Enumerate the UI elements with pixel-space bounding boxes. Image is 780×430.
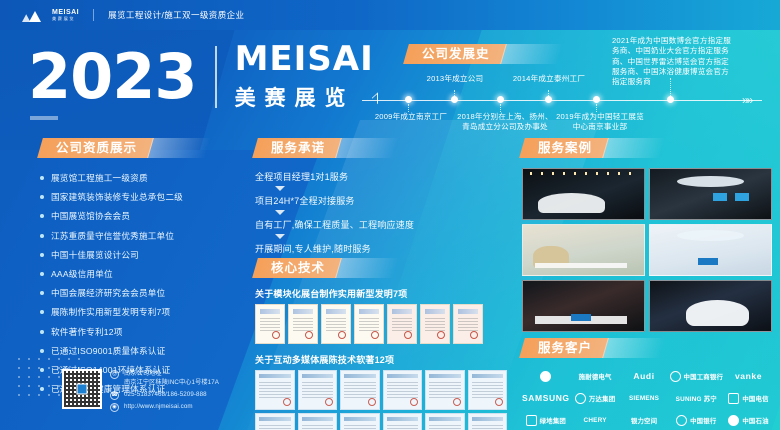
certificate-thumb[interactable] [255, 413, 295, 430]
certificate-thumb[interactable] [453, 304, 483, 344]
case-photo-sunwoda-inflatable-booth[interactable] [649, 280, 772, 332]
list-item-label: AAA级信用单位 [51, 268, 113, 280]
qr-center-logo-icon [77, 384, 88, 395]
service-cases-grid [522, 168, 772, 332]
phone-icon: ☎ [110, 391, 119, 400]
client-name: CHERY [584, 417, 607, 424]
contact-phone: 025-51837468/186-5209-888 [124, 391, 207, 400]
client-logo-bank-of-china: 中国银行 [670, 411, 724, 429]
hero-divider [215, 46, 217, 108]
client-logo-suning: SUNING 苏宁 [670, 389, 724, 407]
bullet-icon [40, 253, 44, 257]
list-item: 展陈制作实用新型发明专利7项 [40, 306, 245, 318]
timeline-event-label: 2009年成立南京工厂 [364, 112, 458, 122]
bullet-icon [40, 176, 44, 180]
case-photo-expo-multi-booth[interactable] [522, 280, 645, 332]
brand-logotype-sub: 美赛展览 [52, 17, 79, 22]
core-technology-title: 核心技术 [271, 258, 325, 278]
client-logo-chery: CHERY [572, 411, 619, 429]
list-item-label: 中国会展经济研究会会员单位 [51, 287, 165, 299]
brand-logotype: MEISAI 美赛展览 [52, 9, 79, 22]
list-item: 已通过ISO9001质量体系认证 [40, 345, 245, 357]
client-logo-greenland: 绿地集团 [522, 411, 570, 429]
list-item: 国家建筑装饰装修专业总承包二级 [40, 191, 245, 203]
chevron-down-icon [275, 186, 285, 191]
list-item-label: 展览馆工程施工一级资质 [51, 172, 148, 184]
software-group-label: 关于互动多媒体展陈技术软著12项 [255, 353, 507, 366]
client-logo-samsung: SAMSUNG [522, 389, 570, 407]
hero-brand-cn: 美赛展览 [235, 82, 374, 112]
client-name: 中国电信 [742, 394, 768, 403]
timeline-arrow-right-icon: »» [742, 94, 751, 106]
certificate-thumb[interactable] [383, 370, 423, 410]
timeline-node [405, 96, 412, 103]
patent-group-label: 关于模块化展台制作实用新型发明7项 [255, 287, 507, 300]
list-item-label: 展陈制作实用新型发明专利7项 [51, 306, 170, 318]
brand-logotype-text: MEISAI [52, 9, 79, 16]
service-promise-panel: 服务承诺 全程项目经理1对1服务 项目24H*7全程对接服务 自有工厂,确保工程… [255, 138, 505, 255]
list-item: 中国会展经济研究会会员单位 [40, 287, 245, 299]
service-promise-flow: 全程项目经理1对1服务 项目24H*7全程对接服务 自有工厂,确保工程质量、工程… [255, 170, 505, 255]
certificate-thumb[interactable] [255, 370, 295, 410]
clients-panel: 服务客户 施耐德电气 Audi 中国工商银行 vanke SAMSUNG [522, 338, 772, 429]
certificate-thumb[interactable] [255, 304, 285, 344]
certificate-thumb[interactable] [298, 370, 338, 410]
timeline-event-label: 2014年成立泰州工厂 [500, 74, 598, 84]
bullet-icon [40, 234, 44, 238]
timeline-arrow-left-icon [372, 92, 378, 108]
certificate-thumb[interactable] [298, 413, 338, 430]
service-cases-title: 服务案例 [538, 138, 592, 158]
contact-address-row: ◎ 南京公司地址 南京江宁区秣陵INC中心1号楼17A [110, 370, 219, 388]
client-name: 中国银行 [690, 416, 716, 425]
icbc-mark-icon [670, 371, 681, 382]
list-item: 江苏重质量守信誉优秀施工单位 [40, 230, 245, 242]
client-name: 绿地集团 [540, 416, 566, 425]
software-certificate-grid [255, 370, 507, 430]
timeline-title: 公司发展史 [422, 44, 490, 64]
qr-code[interactable] [62, 369, 102, 409]
certificate-thumb[interactable] [340, 413, 380, 430]
hero-brand: MEISAI 美赛展览 [235, 42, 374, 112]
case-photo-eco-wood-booth[interactable] [522, 224, 645, 276]
contact-address-value: 南京江宁区秣陵INC中心1号楼17A [124, 379, 219, 386]
certificate-thumb[interactable] [383, 413, 423, 430]
list-item: 展览馆工程施工一级资质 [40, 172, 245, 184]
globe-icon: ◉ [110, 403, 119, 412]
client-name: 中国工商银行 [684, 372, 724, 381]
promise-item: 开展期间,专人维护,随时服务 [255, 242, 505, 255]
timeline-axis [362, 100, 762, 101]
poster-canvas: MEISAI 美赛展览 展览工程设计/施工双一级资质企业 2023 MEISAI… [0, 0, 780, 430]
certificate-thumb[interactable] [340, 370, 380, 410]
client-name: 中国石油 [742, 416, 768, 425]
service-cases-panel: 服务案例 [522, 138, 772, 332]
client-name: SIEMENS [629, 395, 659, 402]
header-divider [93, 9, 94, 21]
certificate-thumb[interactable] [387, 304, 417, 344]
contact-panel: ◎ 南京公司地址 南京江宁区秣陵INC中心1号楼17A ☎ 025-518374… [18, 358, 238, 412]
list-item-label: 软件著作专利12项 [51, 326, 123, 338]
client-name: 银力空间 [631, 416, 657, 425]
core-technology-title-ribbon: 核心技术 [255, 258, 339, 278]
timeline-event-label: 2019年成为中国轻工展览中心南京事业部 [554, 112, 646, 133]
hero-block: 2023 MEISAI 美赛展览 [28, 42, 374, 112]
header-tagline: 展览工程设计/施工双一级资质企业 [108, 9, 244, 21]
certificate-thumb[interactable] [321, 304, 351, 344]
contact-website[interactable]: http://www.njmeisai.com [124, 403, 193, 412]
certificate-thumb[interactable] [468, 370, 508, 410]
client-logo-wanda: 万达集团 [572, 389, 619, 407]
timeline-event-label: 2018年分别在上海、扬州、青岛成立分公司及办事处 [456, 112, 554, 133]
promise-item: 自有工厂,确保工程质量、工程响应速度 [255, 218, 505, 231]
greenland-mark-icon [526, 415, 537, 426]
certificate-thumb[interactable] [425, 413, 465, 430]
chevron-down-icon [275, 234, 285, 239]
client-name: SUNING 苏宁 [676, 394, 717, 403]
list-item: 中国展览馆协会会员 [40, 210, 245, 222]
promise-item: 项目24H*7全程对接服务 [255, 194, 505, 207]
contact-address-label: 南京公司地址 [124, 370, 162, 377]
contact-website-row[interactable]: ◉ http://www.njmeisai.com [110, 403, 219, 412]
clients-title-ribbon: 服务客户 [522, 338, 606, 358]
case-photo-white-dome-booth[interactable] [649, 224, 772, 276]
bullet-icon [40, 272, 44, 276]
certificate-thumb[interactable] [288, 304, 318, 344]
bmw-roundel-icon [540, 371, 551, 382]
location-pin-icon: ◎ [110, 370, 119, 379]
service-promise-title: 服务承诺 [271, 138, 325, 158]
client-name: vanke [735, 371, 762, 381]
china-telecom-mark-icon [728, 393, 739, 404]
client-logo-siemens: SIEMENS [621, 389, 668, 407]
bullet-icon [40, 195, 44, 199]
certificate-thumb[interactable] [420, 304, 450, 344]
list-item-label: 江苏重质量守信誉优秀施工单位 [51, 230, 174, 242]
timeline-event-label: 2013年成立公司 [408, 74, 502, 84]
bullet-icon [40, 330, 44, 334]
certificate-thumb[interactable] [468, 413, 508, 430]
client-logo-audi: Audi [621, 367, 668, 385]
bullet-icon [40, 291, 44, 295]
case-photo-aerospace-booth[interactable] [522, 168, 645, 220]
timeline-node [497, 96, 504, 103]
hero-underline [30, 116, 58, 120]
bullet-icon [40, 349, 44, 353]
qualifications-title: 公司资质展示 [56, 138, 137, 158]
bank-of-china-mark-icon [676, 415, 687, 426]
top-bar: MEISAI 美赛展览 展览工程设计/施工双一级资质企业 [0, 0, 780, 30]
petrochina-mark-icon [728, 415, 739, 426]
timeline-node [593, 96, 600, 103]
service-cases-title-ribbon: 服务案例 [522, 138, 606, 158]
promise-item: 全程项目经理1对1服务 [255, 170, 505, 183]
client-name: 万达集团 [589, 394, 615, 403]
client-logo-bmw [522, 367, 570, 385]
list-item: AAA级信用单位 [40, 268, 245, 280]
client-name: SAMSUNG [522, 393, 570, 403]
client-logo-icbc: 中国工商银行 [670, 367, 724, 385]
timeline-section: 公司发展史 »» 2009年成立南京工厂 2013年成立公司 2018年分别在上… [358, 34, 776, 136]
list-item-label: 中国展览馆协会会员 [51, 210, 130, 222]
timeline-event-label: 2021年成为中国数博会官方指定服务商、中国奶业大会官方指定服务商、中国世界雷达… [612, 36, 736, 87]
list-item: 中国十佳展览设计公司 [40, 249, 245, 261]
certificate-thumb[interactable] [354, 304, 384, 344]
hero-year: 2023 [28, 48, 197, 107]
certificate-thumb[interactable] [425, 370, 465, 410]
client-logo-petrochina: 中国石油 [725, 411, 772, 429]
core-technology-panel: 核心技术 关于模块化展台制作实用新型发明7项 关于互动多媒体展陈技术软著12项 [255, 258, 507, 430]
client-name: 施耐德电气 [579, 372, 612, 381]
client-name: Audi [633, 371, 654, 381]
hero-brand-en: MEISAI [235, 42, 374, 76]
list-item: 软件著作专利12项 [40, 326, 245, 338]
client-logo-china-telecom: 中国电信 [725, 389, 772, 407]
chevron-down-icon [275, 210, 285, 215]
list-item-label: 已通过ISO9001质量体系认证 [51, 345, 165, 357]
contact-address: 南京公司地址 南京江宁区秣陵INC中心1号楼17A [124, 370, 219, 388]
list-item-label: 中国十佳展览设计公司 [51, 249, 139, 261]
client-logo-vanke: vanke [725, 367, 772, 385]
contact-phone-row: ☎ 025-51837468/186-5209-888 [110, 391, 219, 400]
client-logo-yinli-space: 银力空间 [621, 411, 668, 429]
patent-certificate-row [255, 304, 507, 344]
timeline-title-ribbon: 公司发展史 [406, 44, 504, 64]
mountain-logo-icon [22, 9, 44, 22]
contact-details: ◎ 南京公司地址 南京江宁区秣陵INC中心1号楼17A ☎ 025-518374… [110, 369, 219, 412]
bullet-icon [40, 310, 44, 314]
clients-title: 服务客户 [538, 338, 592, 358]
service-promise-title-ribbon: 服务承诺 [255, 138, 339, 158]
client-logo-schneider: 施耐德电气 [572, 367, 619, 385]
wanda-mark-icon [575, 393, 586, 404]
qualifications-title-ribbon: 公司资质展示 [40, 138, 151, 158]
case-photo-tech-hall-booth[interactable] [649, 168, 772, 220]
bullet-icon [40, 214, 44, 218]
clients-logo-grid: 施耐德电气 Audi 中国工商银行 vanke SAMSUNG 万达集团 SIE… [522, 367, 772, 429]
list-item-label: 国家建筑装饰装修专业总承包二级 [51, 191, 183, 203]
